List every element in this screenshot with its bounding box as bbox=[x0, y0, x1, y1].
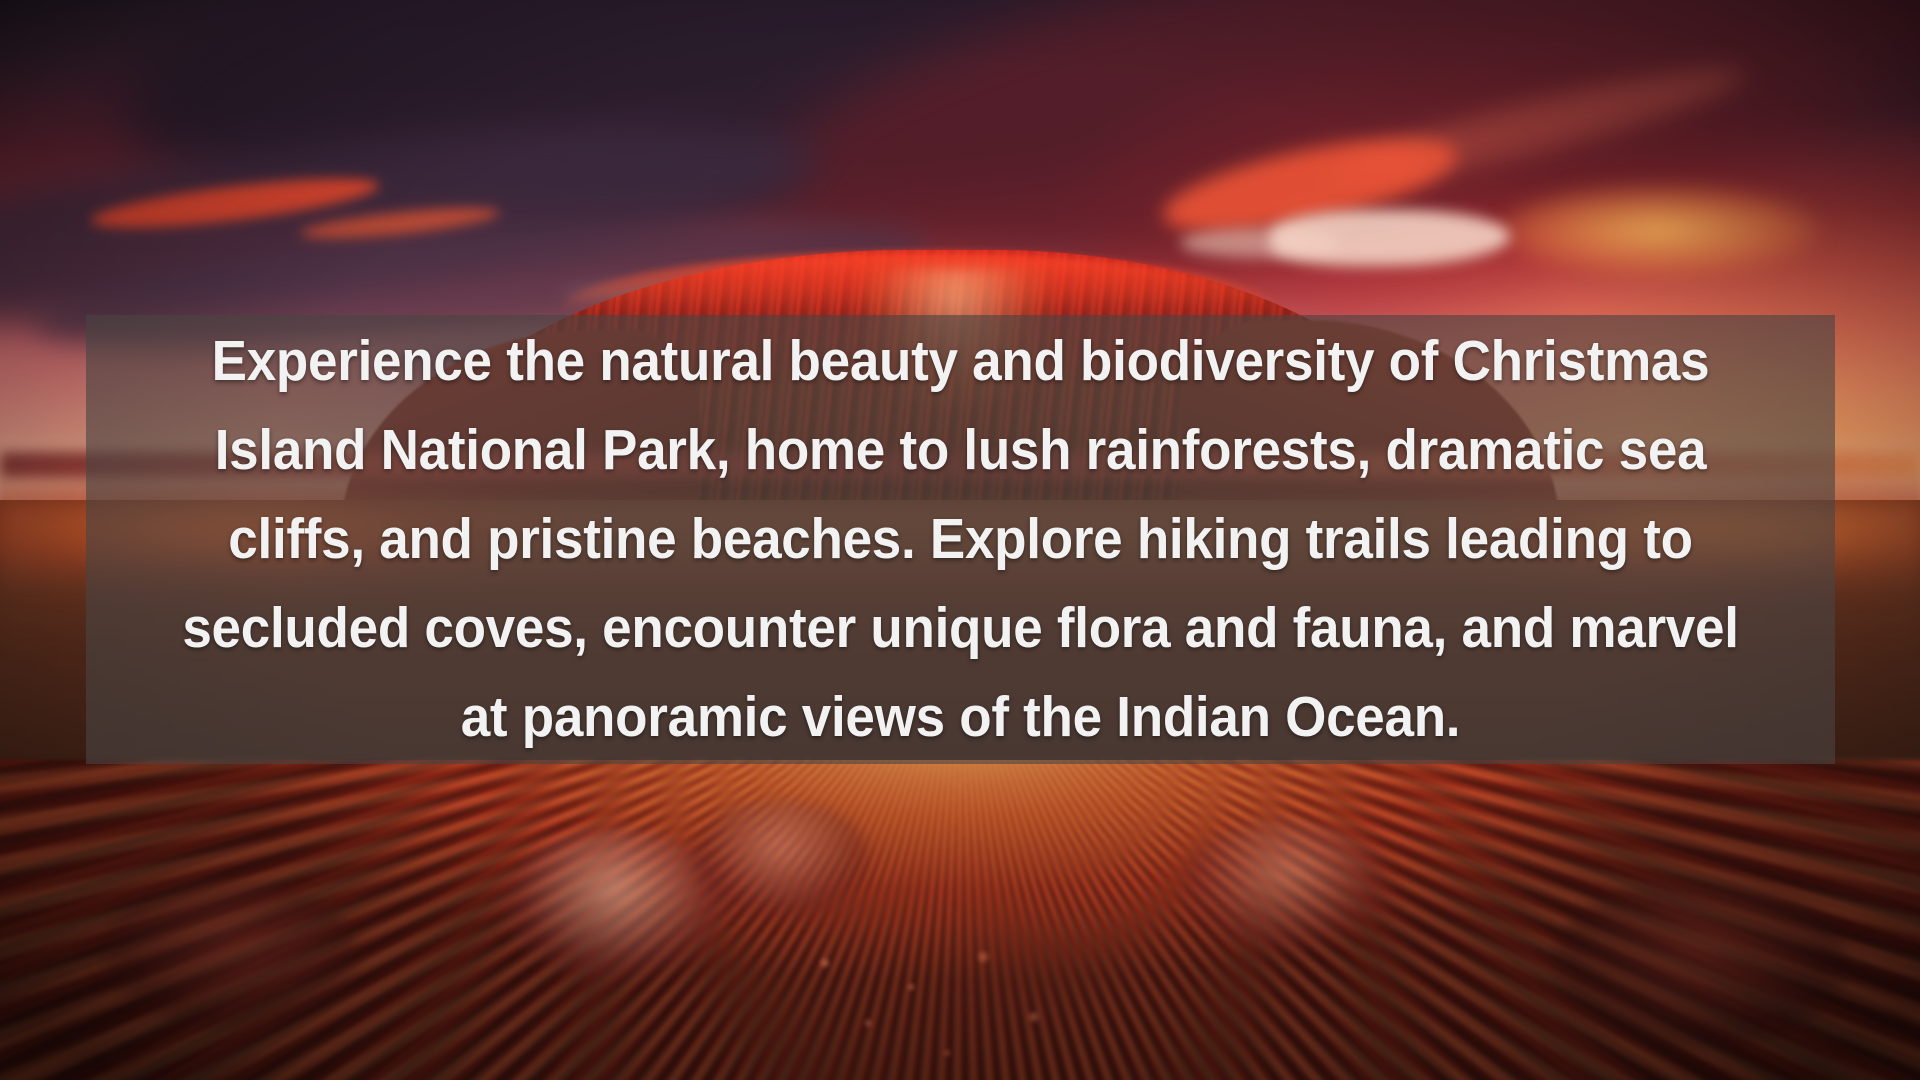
caption-overlay-panel: Experience the natural beauty and biodiv… bbox=[86, 315, 1835, 764]
caption-paragraph: Experience the natural beauty and biodiv… bbox=[147, 317, 1774, 762]
foreground-rubble-stones bbox=[760, 930, 1120, 1080]
banner-stage: Experience the natural beauty and biodiv… bbox=[0, 0, 1920, 1080]
